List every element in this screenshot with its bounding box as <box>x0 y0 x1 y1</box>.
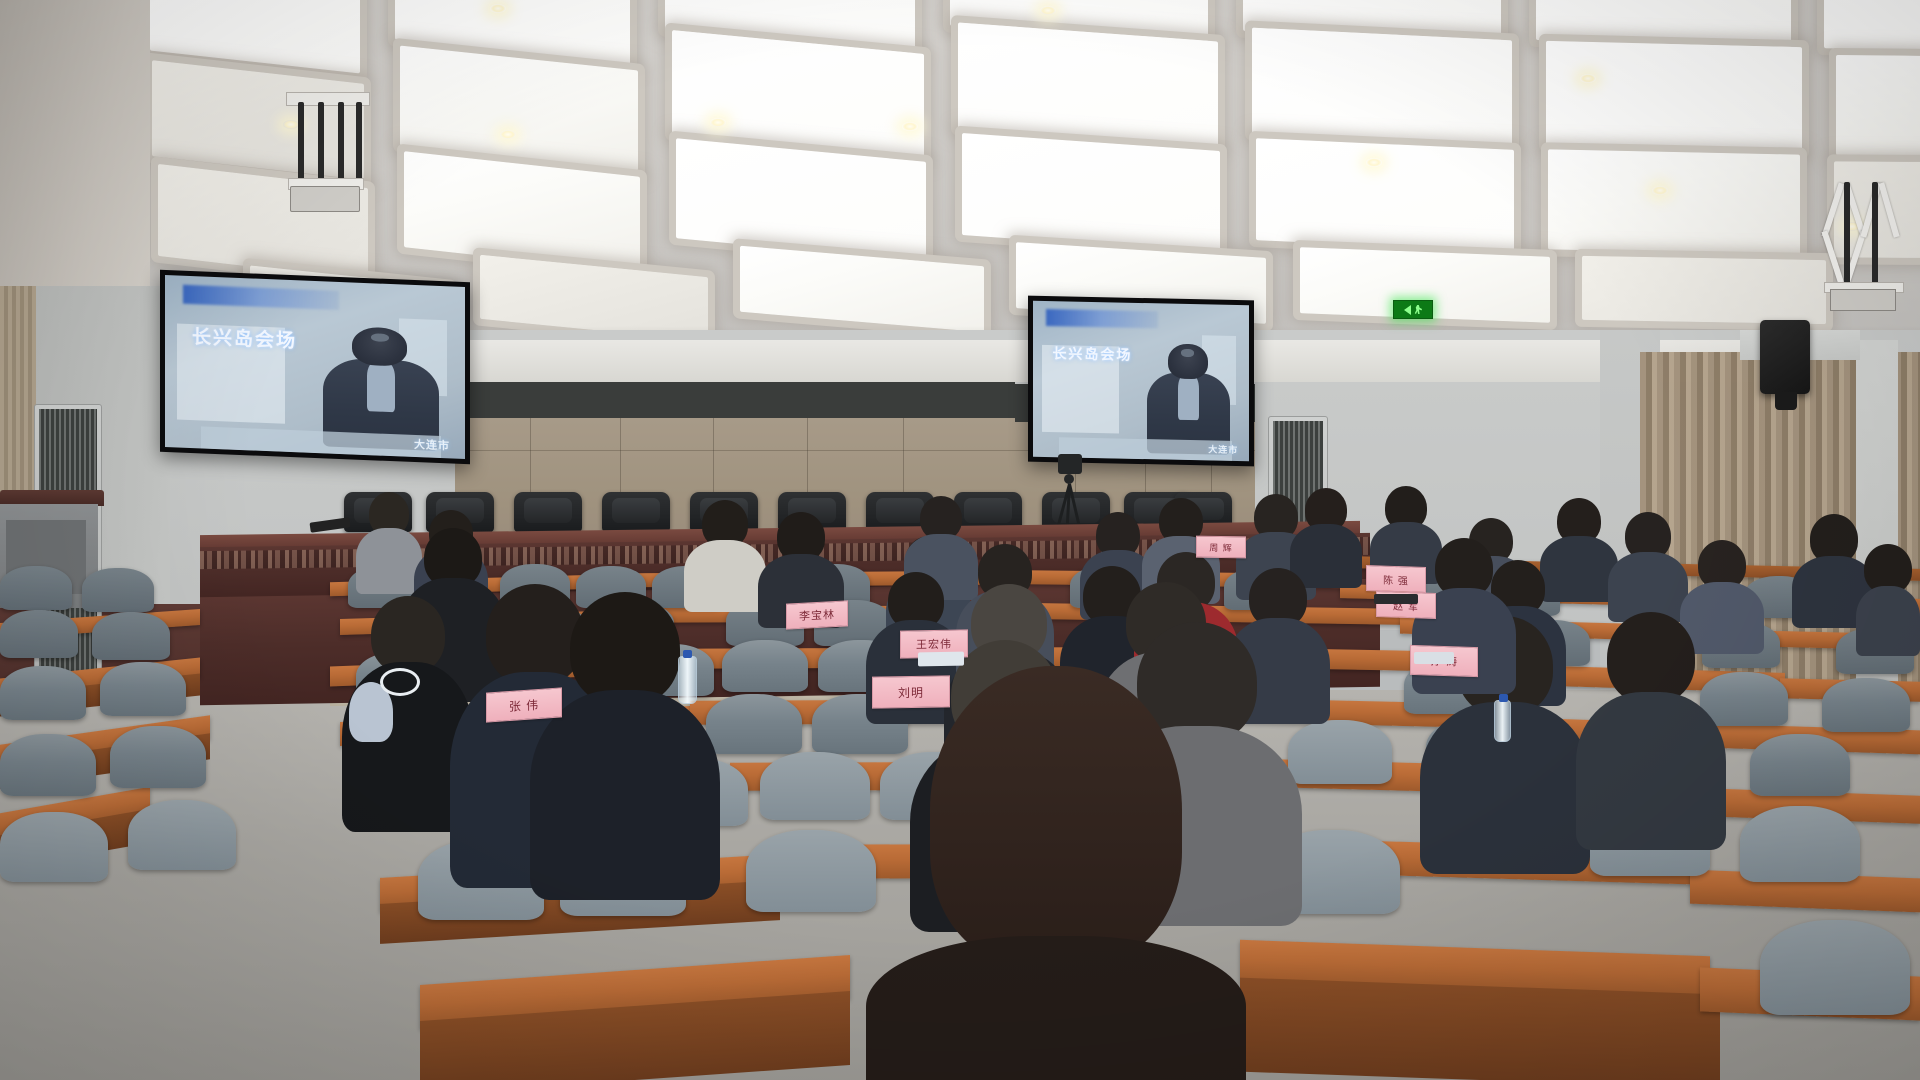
screen-watermark: 大连市 <box>1208 443 1238 457</box>
audience-chair <box>706 694 802 754</box>
projector-device <box>290 186 360 212</box>
screen-content-right: 长兴岛会场 大连市 <box>1033 301 1249 462</box>
wall-speaker <box>1760 320 1810 394</box>
audience-chair <box>722 640 808 692</box>
water-bottle <box>678 656 697 704</box>
screen-figure-head <box>352 326 407 367</box>
projector-drop-rod <box>1844 182 1850 286</box>
ceiling-downlight <box>1366 158 1382 167</box>
audience-chair <box>760 752 870 820</box>
attendee-body <box>1856 586 1920 656</box>
attendee <box>1608 512 1688 620</box>
ceiling-projector-mount-left <box>286 92 376 214</box>
projector-drop-rod <box>298 102 304 184</box>
scissor-arm <box>1878 182 1899 237</box>
name-placard: 刘明 <box>872 675 950 708</box>
audience-chair <box>92 612 170 660</box>
desk-mug <box>380 668 420 696</box>
exit-arrow-icon <box>1404 305 1411 315</box>
attendee <box>866 666 1246 1080</box>
ceiling-light-panel <box>958 22 1218 147</box>
ceiling-light-panel <box>1548 149 1800 254</box>
ceiling-light-panel <box>962 133 1220 253</box>
video-camera-body <box>1058 454 1082 474</box>
attendee-head <box>570 592 680 706</box>
ceiling-light-panel <box>1256 138 1514 252</box>
audience-desk-apron <box>1240 978 1720 1080</box>
attendee <box>1576 612 1726 842</box>
ceiling-downlight <box>902 122 918 131</box>
attendee-body <box>866 936 1246 1080</box>
camera-head <box>1064 474 1074 484</box>
attendee-head <box>1607 612 1695 704</box>
running-man-icon <box>1414 305 1422 314</box>
screen-speaker-figure <box>1145 341 1231 455</box>
audience-chair <box>1822 678 1910 732</box>
screen-figure-face <box>371 333 389 342</box>
audience-chair <box>0 812 108 882</box>
ceiling-light-panel <box>400 45 638 170</box>
projection-screen-right: 长兴岛会场 大连市 <box>1028 296 1254 467</box>
name-placard: 陈 强 <box>1366 565 1426 593</box>
screen-venue-title: 长兴岛会场 <box>1052 343 1132 365</box>
screen-venue-title: 长兴岛会场 <box>192 322 297 353</box>
projector-drop-rod <box>1872 182 1878 286</box>
attendee <box>530 592 720 892</box>
audience-chair <box>0 666 86 720</box>
screen-header-bar <box>1046 309 1158 329</box>
attendee-head <box>930 666 1182 966</box>
ceiling-light-panel <box>404 151 640 273</box>
audience-chair <box>1750 734 1850 796</box>
stage-chair <box>514 492 582 532</box>
screen-watermark: 大连市 <box>414 436 450 453</box>
desk-paper <box>1414 652 1454 664</box>
projector-device <box>1830 289 1896 311</box>
ceiling-projector-lift-right <box>1828 182 1900 292</box>
screen-figure-shirt <box>367 362 396 413</box>
conference-hall-photo: 长兴岛会场 大连市 长兴岛会场 <box>0 0 1920 1080</box>
attendee-body <box>1576 692 1726 850</box>
audience-chair <box>746 830 876 912</box>
screen-header-bar <box>183 284 339 309</box>
audience-chair <box>0 610 78 658</box>
projector-drop-rod <box>356 102 362 180</box>
audience-chair <box>82 568 154 612</box>
desk-device <box>1374 594 1418 604</box>
name-placard: 张 伟 <box>486 687 562 722</box>
screen-content-left: 长兴岛会场 大连市 <box>165 275 465 459</box>
water-bottle <box>1494 700 1511 742</box>
audience-chair <box>1288 720 1392 784</box>
ceiling-light-panel <box>676 138 926 262</box>
ceiling-downlight <box>1652 186 1668 195</box>
attendee-body <box>530 690 720 900</box>
ceiling-light-panel <box>1252 28 1512 147</box>
audience-chair <box>110 726 206 788</box>
screen-figure-face <box>1181 349 1194 357</box>
ceiling-light-panel <box>1824 0 1920 52</box>
name-placard: 李宝林 <box>786 600 848 629</box>
projector-drop-rod <box>338 102 344 182</box>
ceiling-light-panel <box>1546 41 1802 151</box>
stage-chair <box>602 492 670 532</box>
ceiling-downlight <box>710 118 726 127</box>
screen-figure-shirt <box>1178 375 1199 420</box>
ceiling-downlight <box>500 130 516 139</box>
audience-chair <box>100 662 186 716</box>
ceiling-downlight <box>1040 6 1056 15</box>
screen-figure-head <box>1168 343 1208 379</box>
audience-chair <box>1740 806 1860 882</box>
ceiling-light-panel <box>1582 256 1826 324</box>
projector-drop-rod <box>318 102 324 186</box>
stage-dark-header-band <box>455 382 1015 422</box>
ceiling-downlight <box>1580 74 1596 83</box>
scissor-arm <box>1860 182 1881 237</box>
speaker-bracket <box>1775 392 1797 410</box>
ceiling-downlight <box>490 4 506 13</box>
desk-paper <box>918 652 964 667</box>
projection-screen-left: 长兴岛会场 大连市 <box>160 270 470 464</box>
audience-chair <box>0 734 96 796</box>
exit-sign <box>1393 300 1433 319</box>
audience-chair <box>128 800 236 870</box>
attendee <box>1856 544 1920 654</box>
ceiling-light-panel <box>150 0 360 73</box>
tripod-leg <box>1068 484 1081 528</box>
audience-chair <box>0 566 72 610</box>
name-placard: 周 辉 <box>1196 536 1246 559</box>
ceiling-light-panel <box>740 246 984 332</box>
ceiling-light-panel <box>1836 55 1920 157</box>
audience-chair <box>1760 920 1910 1015</box>
